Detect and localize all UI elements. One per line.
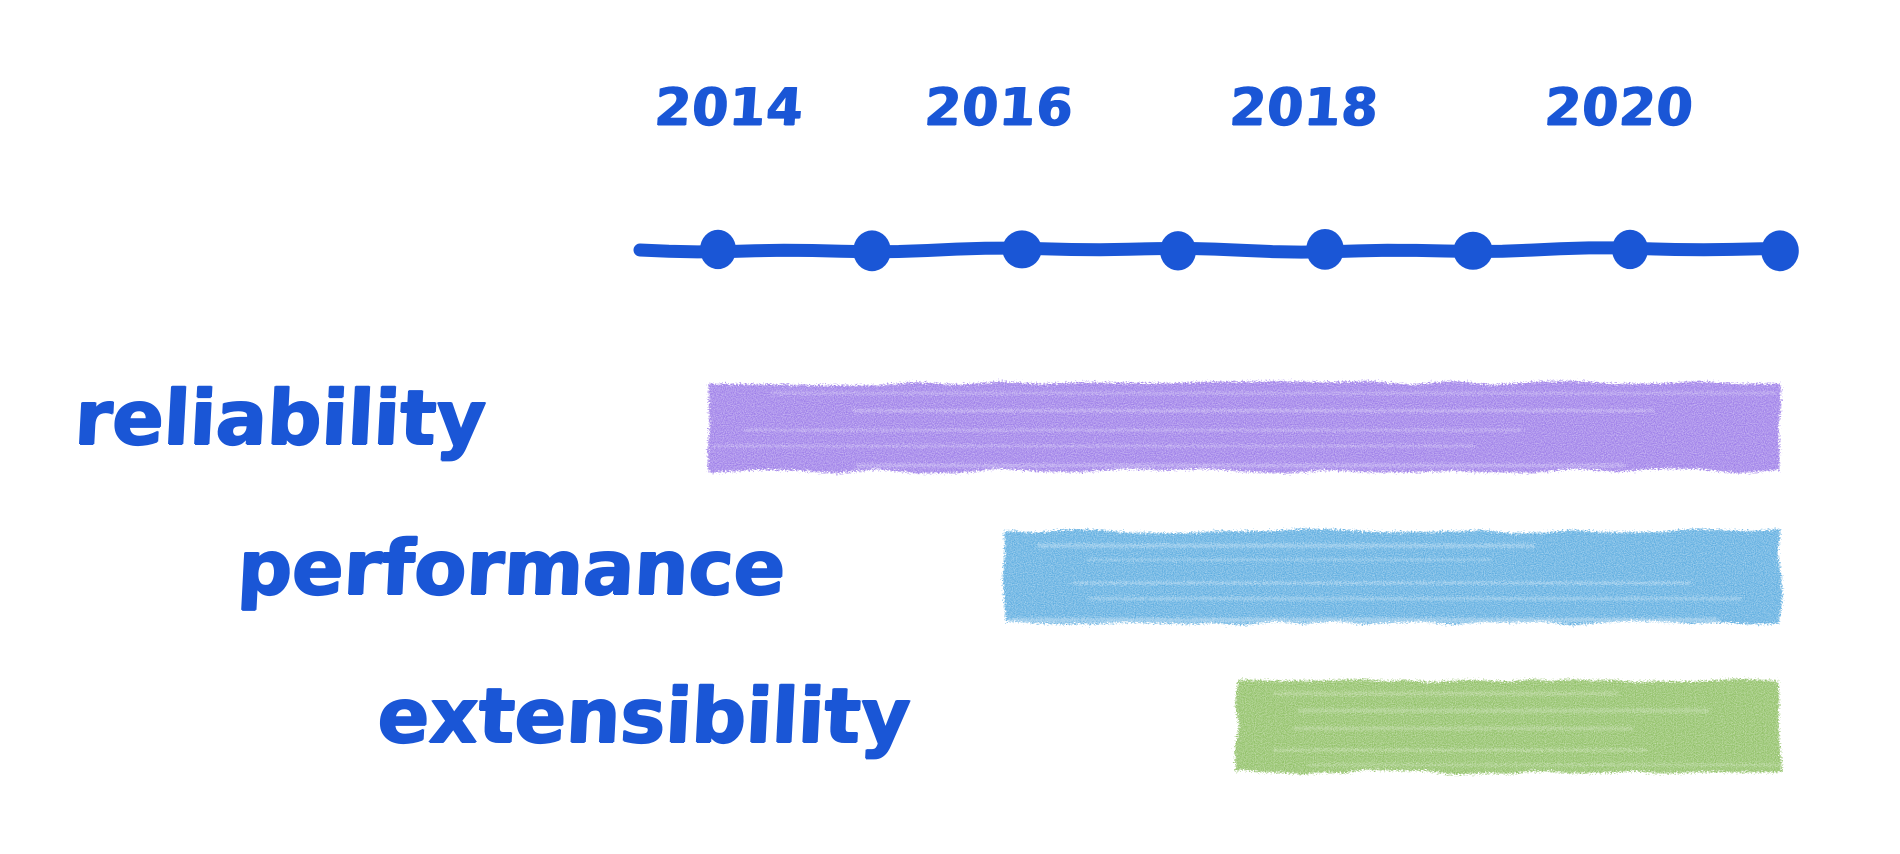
timeline-dot[interactable]: [1761, 230, 1799, 271]
row-label-performance: performance: [236, 530, 787, 606]
timeline-dot[interactable]: [853, 230, 891, 271]
row-label-extensibility: extensibility: [376, 678, 912, 754]
timeline-dot[interactable]: [1002, 230, 1041, 268]
row-label-reliability: reliability: [73, 380, 488, 456]
timeline-dot[interactable]: [1160, 231, 1196, 270]
row-extensibility: extensibility: [0, 0, 1900, 150]
timeline-dot[interactable]: [1612, 230, 1648, 269]
timeline-dot[interactable]: [1306, 229, 1344, 270]
timeline-chart-canvas: 2014 2016 2018 2020 reliability performa…: [0, 0, 1900, 854]
timeline-dot[interactable]: [700, 230, 736, 269]
timeline-dot[interactable]: [1453, 232, 1492, 270]
